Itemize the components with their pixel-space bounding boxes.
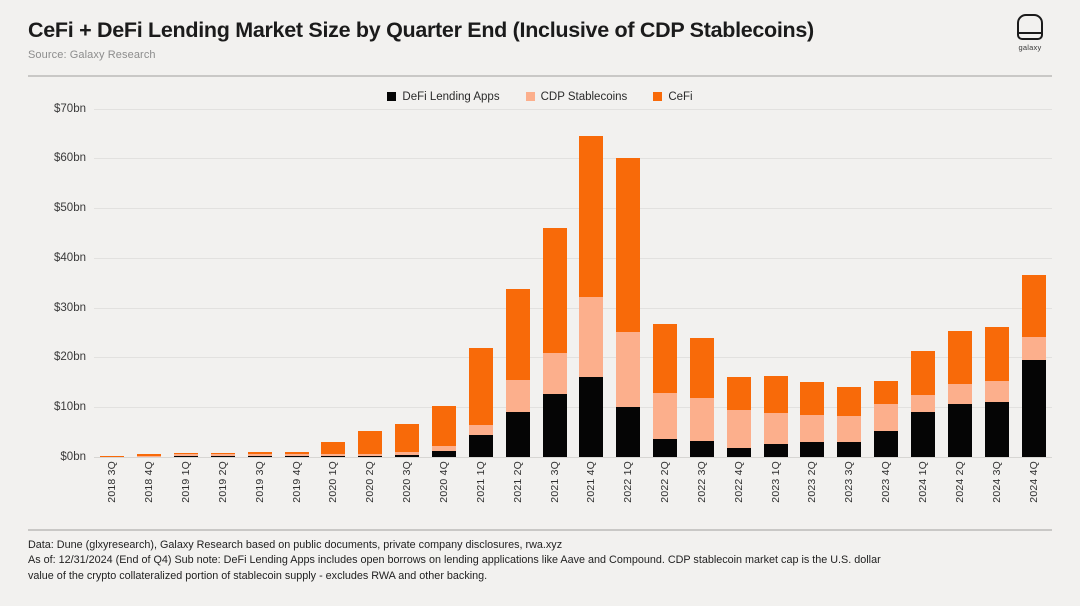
x-axis-tick: 2020 2Q bbox=[352, 461, 389, 523]
gridline bbox=[94, 457, 1052, 458]
x-axis-tick: 2024 4Q bbox=[1015, 461, 1052, 523]
bar-column[interactable] bbox=[315, 109, 352, 457]
galaxy-logo: galaxy bbox=[1008, 14, 1052, 52]
x-axis-tick-label: 2022 1Q bbox=[622, 461, 634, 503]
bar-segment-cefi bbox=[800, 382, 824, 415]
x-axis-tick-label: 2024 1Q bbox=[917, 461, 929, 503]
bar-segment-defi bbox=[506, 412, 530, 456]
bar-column[interactable] bbox=[868, 109, 905, 457]
bar-segment-cefi bbox=[358, 431, 382, 453]
x-axis-tick-label: 2022 2Q bbox=[659, 461, 671, 503]
bar-segment-defi bbox=[948, 404, 972, 457]
stacked-bar[interactable] bbox=[506, 289, 530, 457]
x-axis-tick: 2024 2Q bbox=[941, 461, 978, 523]
legend-item-defi-lending-apps[interactable]: DeFi Lending Apps bbox=[387, 91, 499, 103]
bar-column[interactable] bbox=[426, 109, 463, 457]
x-axis: 2018 3Q2018 4Q2019 1Q2019 2Q2019 3Q2019 … bbox=[94, 461, 1052, 523]
bar-segment-cefi bbox=[432, 406, 456, 446]
x-axis-tick-label: 2021 2Q bbox=[512, 461, 524, 503]
bar-column[interactable] bbox=[647, 109, 684, 457]
x-axis-tick: 2020 3Q bbox=[389, 461, 426, 523]
x-axis-tick: 2020 1Q bbox=[315, 461, 352, 523]
bar-column[interactable] bbox=[794, 109, 831, 457]
bar-column[interactable] bbox=[389, 109, 426, 457]
footnote-line-2: As of: 12/31/2024 (End of Q4) Sub note: … bbox=[28, 553, 1052, 569]
x-axis-tick-label: 2018 3Q bbox=[106, 461, 118, 503]
bar-segment-cefi bbox=[653, 324, 677, 393]
bar-column[interactable] bbox=[352, 109, 389, 457]
page-title: CeFi + DeFi Lending Market Size by Quart… bbox=[28, 18, 1052, 43]
x-axis-tick-label: 2023 3Q bbox=[843, 461, 855, 503]
galaxy-logo-icon bbox=[1017, 14, 1043, 40]
chart-page: CeFi + DeFi Lending Market Size by Quart… bbox=[0, 0, 1080, 606]
bar-column[interactable] bbox=[905, 109, 942, 457]
source-label: Source: Galaxy Research bbox=[28, 49, 1052, 61]
legend-swatch-icon bbox=[653, 92, 662, 101]
x-axis-tick: 2022 1Q bbox=[610, 461, 647, 523]
bar-segment-defi bbox=[248, 456, 272, 457]
x-axis-tick: 2021 1Q bbox=[462, 461, 499, 523]
bar-column[interactable] bbox=[978, 109, 1015, 457]
bar-segment-cefi bbox=[727, 377, 751, 410]
bar-segment-cdp bbox=[948, 384, 972, 404]
chart-legend: DeFi Lending AppsCDP StablecoinsCeFi bbox=[28, 91, 1052, 103]
stacked-bar[interactable] bbox=[837, 387, 861, 457]
x-axis-tick: 2019 1Q bbox=[168, 461, 205, 523]
bar-segment-defi bbox=[764, 444, 788, 457]
x-axis-tick-label: 2022 3Q bbox=[696, 461, 708, 503]
galaxy-logo-label: galaxy bbox=[1008, 43, 1052, 52]
bar-column[interactable] bbox=[168, 109, 205, 457]
bar-segment-defi bbox=[800, 442, 824, 457]
bar-column[interactable] bbox=[610, 109, 647, 457]
stacked-bar[interactable] bbox=[948, 331, 972, 456]
header-divider bbox=[28, 75, 1052, 77]
bar-segment-cefi bbox=[874, 381, 898, 404]
bar-segment-cdp bbox=[506, 380, 530, 413]
y-axis-tick-label: $20bn bbox=[54, 351, 86, 363]
legend-item-cefi[interactable]: CeFi bbox=[653, 91, 692, 103]
x-axis-tick-label: 2021 1Q bbox=[475, 461, 487, 503]
x-axis-tick: 2024 1Q bbox=[905, 461, 942, 523]
stacked-bar[interactable] bbox=[543, 228, 567, 457]
y-axis: $0bn$10bn$20bn$30bn$40bn$50bn$60bn$70bn bbox=[28, 109, 90, 457]
bar-segment-cdp bbox=[800, 415, 824, 442]
stacked-bar[interactable] bbox=[100, 456, 124, 457]
bar-segment-cefi bbox=[837, 387, 861, 416]
bar-segment-cefi bbox=[506, 289, 530, 379]
bar-segment-cefi bbox=[690, 338, 714, 398]
chart-header: CeFi + DeFi Lending Market Size by Quart… bbox=[28, 0, 1052, 61]
bar-segment-defi bbox=[174, 456, 198, 457]
stacked-bar[interactable] bbox=[432, 406, 456, 457]
legend-item-cdp-stablecoins[interactable]: CDP Stablecoins bbox=[526, 91, 628, 103]
footnote-line-1: Data: Dune (glxyresearch), Galaxy Resear… bbox=[28, 538, 1052, 554]
bar-segment-defi bbox=[874, 431, 898, 457]
x-axis-tick: 2023 2Q bbox=[794, 461, 831, 523]
bar-segment-cdp bbox=[1022, 337, 1046, 360]
stacked-bar[interactable] bbox=[727, 377, 751, 457]
bar-segment-defi bbox=[211, 456, 235, 457]
x-axis-tick-label: 2024 3Q bbox=[991, 461, 1003, 503]
stacked-bar[interactable] bbox=[1022, 275, 1046, 457]
stacked-bar[interactable] bbox=[395, 424, 419, 456]
bar-segment-cefi bbox=[764, 376, 788, 413]
bar-segment-cdp bbox=[985, 381, 1009, 402]
legend-label: CeFi bbox=[668, 91, 692, 103]
footnote-line-3: value of the crypto collateralized porti… bbox=[28, 569, 1052, 585]
bar-segment-cefi bbox=[948, 331, 972, 383]
stacked-bar[interactable] bbox=[911, 351, 935, 456]
y-axis-tick-label: $10bn bbox=[54, 401, 86, 413]
bar-segment-defi bbox=[727, 448, 751, 456]
legend-swatch-icon bbox=[387, 92, 396, 101]
bar-column[interactable] bbox=[499, 109, 536, 457]
bar-column[interactable] bbox=[684, 109, 721, 457]
x-axis-tick-label: 2020 2Q bbox=[364, 461, 376, 503]
x-axis-tick: 2019 3Q bbox=[241, 461, 278, 523]
bar-segment-cefi bbox=[100, 456, 124, 457]
x-axis-tick: 2024 3Q bbox=[978, 461, 1015, 523]
bar-segment-cdp bbox=[874, 404, 898, 431]
bar-segment-cdp bbox=[469, 425, 493, 435]
y-axis-tick-label: $50bn bbox=[54, 202, 86, 214]
stacked-bar[interactable] bbox=[358, 431, 382, 457]
bar-segment-cefi bbox=[1022, 275, 1046, 338]
x-axis-tick: 2021 3Q bbox=[536, 461, 573, 523]
x-axis-tick-label: 2019 4Q bbox=[291, 461, 303, 503]
x-axis-tick: 2023 3Q bbox=[831, 461, 868, 523]
x-axis-tick-label: 2022 4Q bbox=[733, 461, 745, 503]
y-axis-tick-label: $70bn bbox=[54, 103, 86, 115]
legend-swatch-icon bbox=[526, 92, 535, 101]
stacked-bar[interactable] bbox=[985, 327, 1009, 457]
bar-segment-cdp bbox=[911, 395, 935, 412]
bar-column[interactable] bbox=[94, 109, 131, 457]
x-axis-tick: 2019 4Q bbox=[278, 461, 315, 523]
x-axis-tick-label: 2019 3Q bbox=[254, 461, 266, 503]
stacked-bar[interactable] bbox=[248, 452, 272, 456]
x-axis-tick: 2022 2Q bbox=[647, 461, 684, 523]
bar-segment-cdp bbox=[137, 456, 161, 457]
bar-column[interactable] bbox=[1015, 109, 1052, 457]
x-axis-tick-label: 2024 2Q bbox=[954, 461, 966, 503]
stacked-bar[interactable] bbox=[469, 348, 493, 457]
bar-segment-cdp bbox=[690, 398, 714, 442]
bar-segment-defi bbox=[837, 442, 861, 457]
x-axis-tick-label: 2020 1Q bbox=[327, 461, 339, 503]
x-axis-tick-label: 2024 4Q bbox=[1028, 461, 1040, 503]
stacked-bar[interactable] bbox=[874, 381, 898, 457]
bar-column[interactable] bbox=[573, 109, 610, 457]
bar-segment-cdp bbox=[616, 332, 640, 407]
x-axis-tick: 2019 2Q bbox=[205, 461, 242, 523]
bar-segment-cefi bbox=[911, 351, 935, 395]
stacked-bar[interactable] bbox=[616, 158, 640, 456]
bar-column[interactable] bbox=[831, 109, 868, 457]
bar-column[interactable] bbox=[205, 109, 242, 457]
bar-segment-cdp bbox=[543, 353, 567, 394]
bar-segment-cefi bbox=[543, 228, 567, 354]
legend-label: CDP Stablecoins bbox=[541, 91, 628, 103]
bar-segment-cdp bbox=[727, 410, 751, 449]
x-axis-tick-label: 2023 4Q bbox=[880, 461, 892, 503]
x-axis-tick-label: 2019 2Q bbox=[217, 461, 229, 503]
bar-segment-cefi bbox=[321, 442, 345, 454]
bar-segment-cdp bbox=[764, 413, 788, 444]
bar-segment-defi bbox=[543, 394, 567, 457]
stacked-bar[interactable] bbox=[211, 453, 235, 457]
stacked-bar[interactable] bbox=[321, 442, 345, 456]
bar-segment-cdp bbox=[653, 393, 677, 439]
bar-column[interactable] bbox=[278, 109, 315, 457]
y-axis-tick-label: $40bn bbox=[54, 252, 86, 264]
x-axis-tick: 2023 4Q bbox=[868, 461, 905, 523]
plot-area: $0bn$10bn$20bn$30bn$40bn$50bn$60bn$70bn … bbox=[28, 109, 1052, 527]
bar-segment-defi bbox=[690, 441, 714, 456]
bar-column[interactable] bbox=[757, 109, 794, 457]
bar-segment-cdp bbox=[837, 416, 861, 442]
bar-segment-defi bbox=[432, 451, 456, 457]
bar-segment-cefi bbox=[985, 327, 1009, 381]
bar-segment-cefi bbox=[579, 136, 603, 297]
bar-segment-defi bbox=[579, 377, 603, 457]
bar-segment-cefi bbox=[469, 348, 493, 426]
legend-label: DeFi Lending Apps bbox=[402, 91, 499, 103]
x-axis-tick: 2022 3Q bbox=[684, 461, 721, 523]
bar-segment-defi bbox=[469, 435, 493, 456]
bar-segment-defi bbox=[653, 439, 677, 457]
bar-segment-cdp bbox=[579, 297, 603, 378]
stacked-bar[interactable] bbox=[285, 452, 309, 457]
bar-column[interactable] bbox=[241, 109, 278, 457]
chart-footnotes: Data: Dune (glxyresearch), Galaxy Resear… bbox=[28, 531, 1052, 585]
stacked-bar[interactable] bbox=[800, 382, 824, 457]
stacked-bar[interactable] bbox=[579, 136, 603, 457]
stacked-bar[interactable] bbox=[764, 376, 788, 457]
x-axis-tick-label: 2018 4Q bbox=[143, 461, 155, 503]
bar-segment-cefi bbox=[616, 158, 640, 332]
bar-segment-defi bbox=[285, 456, 309, 457]
bar-column[interactable] bbox=[941, 109, 978, 457]
bar-column[interactable] bbox=[462, 109, 499, 457]
y-axis-tick-label: $30bn bbox=[54, 302, 86, 314]
bar-segment-defi bbox=[911, 412, 935, 456]
bar-column[interactable] bbox=[720, 109, 757, 457]
bar-segment-defi bbox=[395, 455, 419, 456]
bar-column[interactable] bbox=[536, 109, 573, 457]
x-axis-tick-label: 2021 3Q bbox=[549, 461, 561, 503]
x-axis-tick-label: 2019 1Q bbox=[180, 461, 192, 503]
bar-segment-defi bbox=[321, 456, 345, 457]
bar-segment-cefi bbox=[395, 424, 419, 452]
x-axis-tick-label: 2023 1Q bbox=[770, 461, 782, 503]
y-axis-tick-label: $60bn bbox=[54, 152, 86, 164]
stacked-bar[interactable] bbox=[653, 324, 677, 457]
bar-segment-defi bbox=[358, 456, 382, 457]
x-axis-tick: 2020 4Q bbox=[426, 461, 463, 523]
x-axis-tick-label: 2020 4Q bbox=[438, 461, 450, 503]
x-axis-tick: 2022 4Q bbox=[720, 461, 757, 523]
bar-segment-defi bbox=[616, 407, 640, 457]
x-axis-tick: 2021 4Q bbox=[573, 461, 610, 523]
x-axis-tick-label: 2020 3Q bbox=[401, 461, 413, 503]
x-axis-tick-label: 2023 2Q bbox=[806, 461, 818, 503]
bar-column[interactable] bbox=[131, 109, 168, 457]
bar-segment-defi bbox=[1022, 360, 1046, 456]
stacked-bar[interactable] bbox=[690, 338, 714, 457]
stacked-bar[interactable] bbox=[137, 454, 161, 456]
x-axis-tick-label: 2021 4Q bbox=[585, 461, 597, 503]
stacked-bar[interactable] bbox=[174, 453, 198, 457]
x-axis-tick: 2023 1Q bbox=[757, 461, 794, 523]
y-axis-tick-label: $0bn bbox=[60, 451, 86, 463]
x-axis-tick: 2018 4Q bbox=[131, 461, 168, 523]
x-axis-tick: 2021 2Q bbox=[499, 461, 536, 523]
bar-series-group bbox=[94, 109, 1052, 457]
x-axis-tick: 2018 3Q bbox=[94, 461, 131, 523]
bar-segment-defi bbox=[985, 402, 1009, 457]
